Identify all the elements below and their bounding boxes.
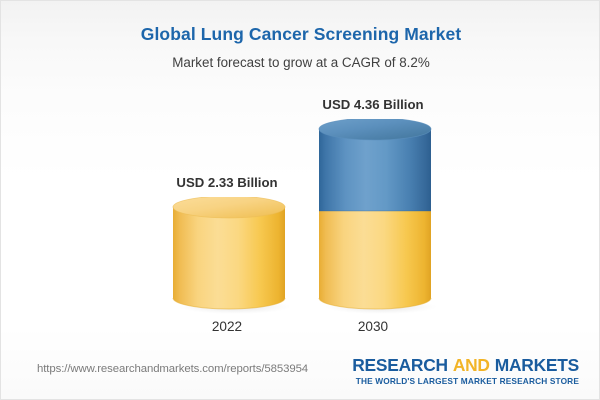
logo-word-research: RESEARCH [352,355,448,375]
chart-card: Global Lung Cancer Screening Market Mark… [0,0,600,400]
bar-value-label-2022: USD 2.33 Billion [127,175,327,190]
logo-tagline: THE WORLD'S LARGEST MARKET RESEARCH STOR… [352,376,579,387]
logo-wordmark: RESEARCHANDMARKETS [352,355,579,375]
bar-value-label-2030: USD 4.36 Billion [273,97,473,112]
chart-footer: https://www.researchandmarkets.com/repor… [1,347,600,399]
bar-cylinder-2022 [171,197,291,315]
bar-cylinder-2030 [317,119,437,315]
logo-word-and: AND [453,355,490,375]
logo-word-markets: MARKETS [495,355,579,375]
report-url[interactable]: https://www.researchandmarkets.com/repor… [37,363,308,375]
bar-chart-plot-area: USD 2.33 Billion [1,1,600,351]
x-axis-tick-2030: 2030 [273,319,473,334]
research-and-markets-logo[interactable]: RESEARCHANDMARKETS THE WORLD'S LARGEST M… [352,355,579,387]
